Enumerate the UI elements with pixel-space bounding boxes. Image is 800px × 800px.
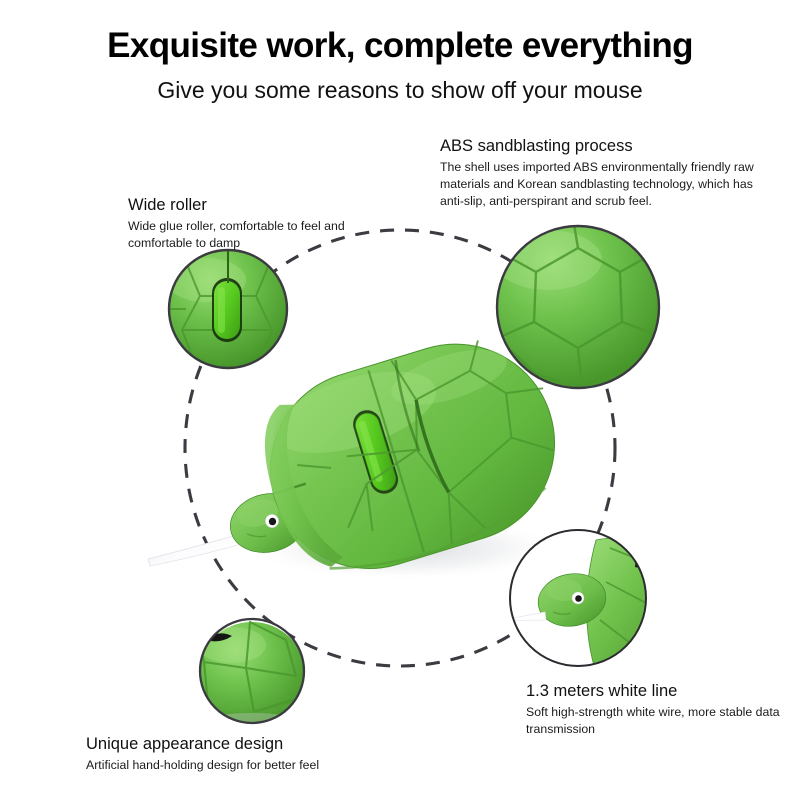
annotation-body: Soft high-strength white wire, more stab… [526,704,791,738]
inset-scroll-wheel [214,281,240,339]
annotation-title: Unique appearance design [86,734,386,755]
annotation-title: 1.3 meters white line [526,681,791,702]
inset-wide-roller [166,250,287,368]
annotation-abs-sandblasting: ABS sandblasting process The shell uses … [440,136,775,210]
annotation-wide-roller: Wide roller Wide glue roller, comfortabl… [128,195,368,252]
annotation-title: Wide roller [128,195,368,216]
inset-shell-texture [488,186,668,388]
annotation-body: The shell uses imported ABS environmenta… [440,159,775,210]
product-illustration [0,0,800,800]
product-infographic-poster: Exquisite work, complete everything Give… [0,0,800,800]
annotation-appearance-design: Unique appearance design Artificial hand… [86,734,386,774]
annotation-body: Artificial hand-holding design for bette… [86,757,386,774]
annotation-white-line: 1.3 meters white line Soft high-strength… [526,681,791,738]
inset-appearance-design [198,619,306,731]
annotation-body: Wide glue roller, comfortable to feel an… [128,218,368,252]
annotation-title: ABS sandblasting process [440,136,775,157]
